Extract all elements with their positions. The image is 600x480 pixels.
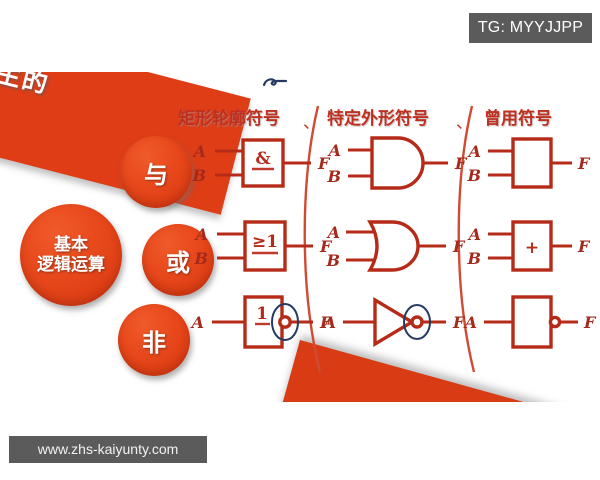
svg-text:A: A [327, 141, 341, 160]
column-divider-arc-1 [305, 106, 320, 372]
gate-distinctive-not: A F [322, 300, 466, 344]
svg-text:A: A [192, 142, 206, 161]
svg-text:+: + [525, 238, 539, 258]
svg-text:B: B [466, 166, 481, 185]
svg-text:&: & [255, 149, 271, 169]
slide-screenshot: TG: MYYJJPP 陌生的 基本 逻辑运算 与 或 非 矩形轮廓符号 、 特… [0, 0, 600, 480]
svg-text:≥1: ≥1 [252, 232, 278, 252]
svg-text:A: A [326, 223, 340, 242]
svg-text:B: B [193, 249, 208, 268]
svg-text:F: F [577, 154, 591, 173]
site-watermark: www.zhs-kaiyunty.com [9, 436, 207, 463]
svg-text:F: F [454, 154, 468, 173]
logic-gate-diagram-layer: .gl { stroke:#b52b18; stroke-width:3; fi… [0, 72, 600, 402]
slide-canvas: 陌生的 基本 逻辑运算 与 或 非 矩形轮廓符号 、 特定外形符号 、 曾用符号 [0, 72, 600, 402]
svg-text:F: F [452, 237, 466, 256]
svg-text:A: A [194, 225, 208, 244]
svg-text:A: A [322, 313, 336, 332]
tg-badge: TG: MYYJJPP [469, 13, 592, 43]
gate-legacy-not: A F [463, 297, 597, 347]
svg-text:B: B [326, 167, 341, 186]
svg-text:B: B [191, 166, 206, 185]
svg-text:B: B [325, 251, 340, 270]
gate-distinctive-and: A B F [326, 138, 468, 188]
svg-text:B: B [466, 249, 481, 268]
svg-text:1: 1 [256, 304, 268, 324]
gate-rect-not: A F 1 [190, 297, 333, 347]
svg-text:F: F [583, 313, 597, 332]
svg-text:A: A [467, 142, 481, 161]
gate-rect-or: A B F ≥1 [193, 222, 333, 270]
gate-legacy-or: A B F + [466, 222, 591, 270]
svg-text:F: F [577, 237, 591, 256]
gate-legacy-and: A B F [466, 139, 591, 187]
svg-text:A: A [190, 313, 204, 332]
svg-text:A: A [463, 313, 477, 332]
svg-text:A: A [467, 225, 481, 244]
gate-distinctive-or: A B F [325, 222, 466, 270]
